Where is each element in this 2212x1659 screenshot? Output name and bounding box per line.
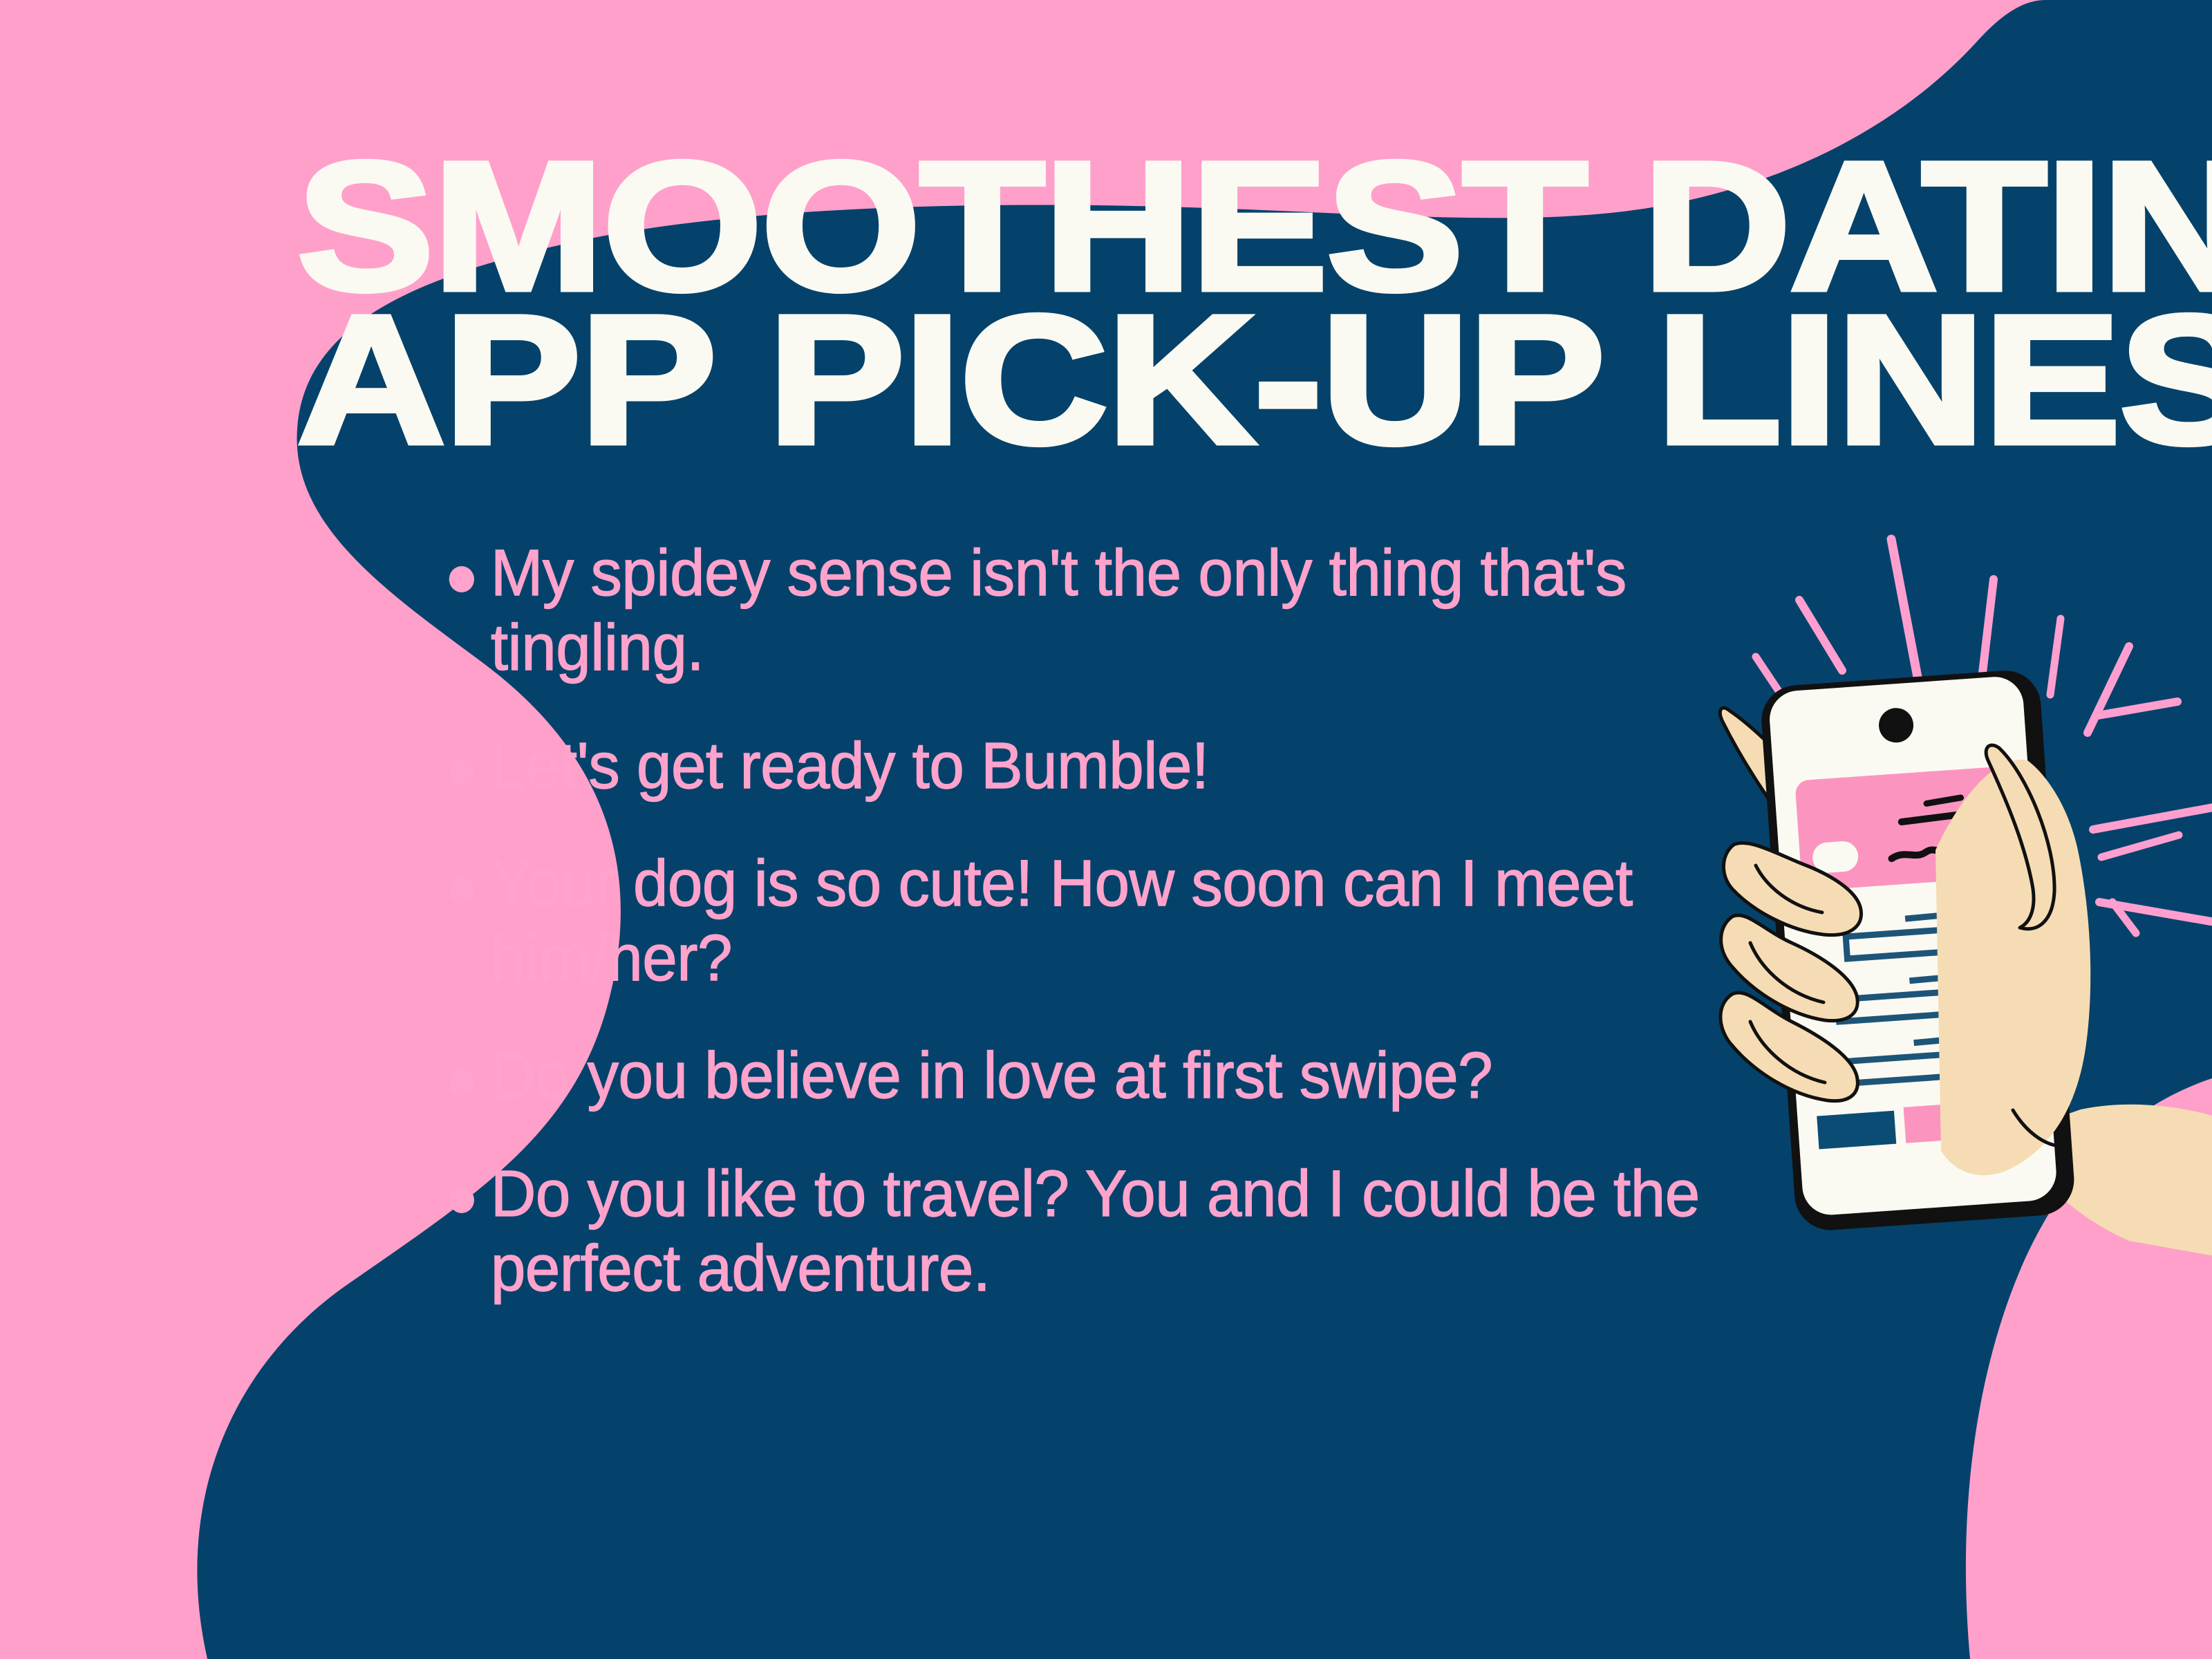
list-item: My spidey sense isn't the only thing tha… bbox=[415, 536, 1748, 686]
bullet-dot-icon bbox=[449, 1069, 474, 1095]
bullet-dot-icon bbox=[449, 877, 474, 903]
title-line-2: App Pick-Up Lines bbox=[297, 295, 2212, 465]
finger-group bbox=[1721, 843, 1862, 1100]
poster-canvas: Smoothest Dating App Pick-Up Lines My sp… bbox=[0, 0, 2212, 1659]
list-item-label: My spidey sense isn't the only thing tha… bbox=[491, 536, 1748, 686]
hand-holding-phone-illustration bbox=[1687, 525, 2212, 1258]
list-item-label: Your dog is so cute! How soon can I meet… bbox=[491, 846, 1748, 996]
list-item: Let's get ready to Bumble! bbox=[415, 729, 1748, 803]
list-item-label: Do you believe in love at first swipe? bbox=[491, 1038, 1748, 1113]
list-item: Your dog is so cute! How soon can I meet… bbox=[415, 846, 1748, 996]
list-item-label: Do you like to travel? You and I could b… bbox=[491, 1156, 1748, 1306]
bullet-dot-icon bbox=[449, 1187, 474, 1213]
list-item: Do you believe in love at first swipe? bbox=[415, 1038, 1748, 1113]
bullet-dot-icon bbox=[449, 759, 474, 785]
list-item: Do you like to travel? You and I could b… bbox=[415, 1156, 1748, 1306]
pickup-lines-list: My spidey sense isn't the only thing tha… bbox=[415, 536, 1811, 1306]
page-title: Smoothest Dating App Pick-Up Lines bbox=[297, 142, 1991, 442]
list-item-label: Let's get ready to Bumble! bbox=[491, 729, 1748, 803]
bottom-navy-chip bbox=[1817, 1111, 1896, 1150]
bullet-dot-icon bbox=[449, 566, 474, 592]
